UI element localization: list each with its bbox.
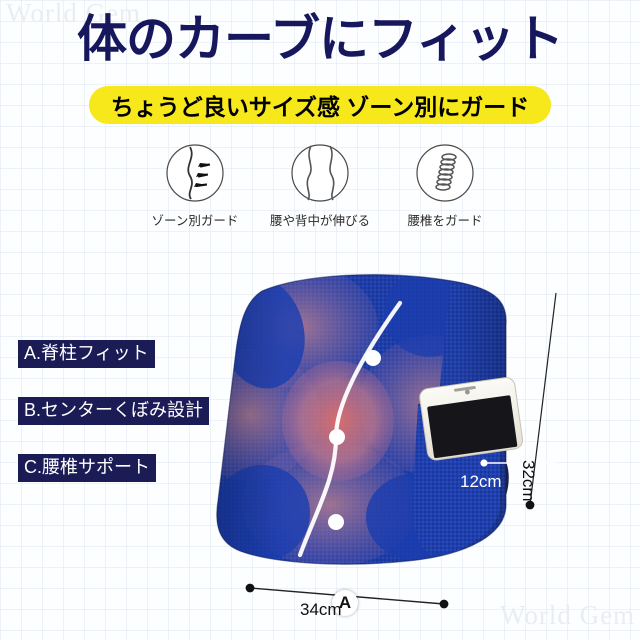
subtitle-badge: ちょうど良いサイズ感 ゾーン別にガード [89, 86, 551, 124]
spine-point-c [328, 514, 344, 530]
subtitle-badge-text: ちょうど良いサイズ感 ゾーン別にガード [111, 88, 530, 122]
spine-point-b [329, 429, 345, 445]
feature-item-stretch: 腰や背中が伸びる [265, 142, 375, 238]
ad-page: World Gem World Gem 体のカーブにフィット ちょうど良いサイズ… [0, 0, 640, 640]
spine-stretch-icon [289, 142, 351, 204]
lumbar-spring-icon [414, 142, 476, 204]
spine-zone-guard-icon [164, 142, 226, 204]
feature-label: 腰椎をガード [407, 210, 482, 229]
dimension-overall-height: 32cm [518, 460, 538, 502]
phone-in-pocket [419, 376, 524, 461]
cushion-illustration [0, 255, 640, 615]
product-image: A B C [0, 255, 640, 615]
feature-item-lumbar: 腰椎をガード [390, 142, 500, 238]
feature-row: ゾーン別ガード 腰や背中が伸びる [140, 142, 500, 238]
page-title: 体のカーブにフィット [0, 14, 640, 64]
feature-label: ゾーン別ガード [152, 210, 239, 229]
dimension-overall-width: 34cm [300, 600, 342, 620]
spine-point-a [365, 350, 381, 366]
feature-label: 腰や背中が伸びる [270, 210, 370, 229]
feature-item-zone-guard: ゾーン別ガード [140, 142, 250, 238]
dimension-pocket-width: 12cm [460, 472, 502, 492]
